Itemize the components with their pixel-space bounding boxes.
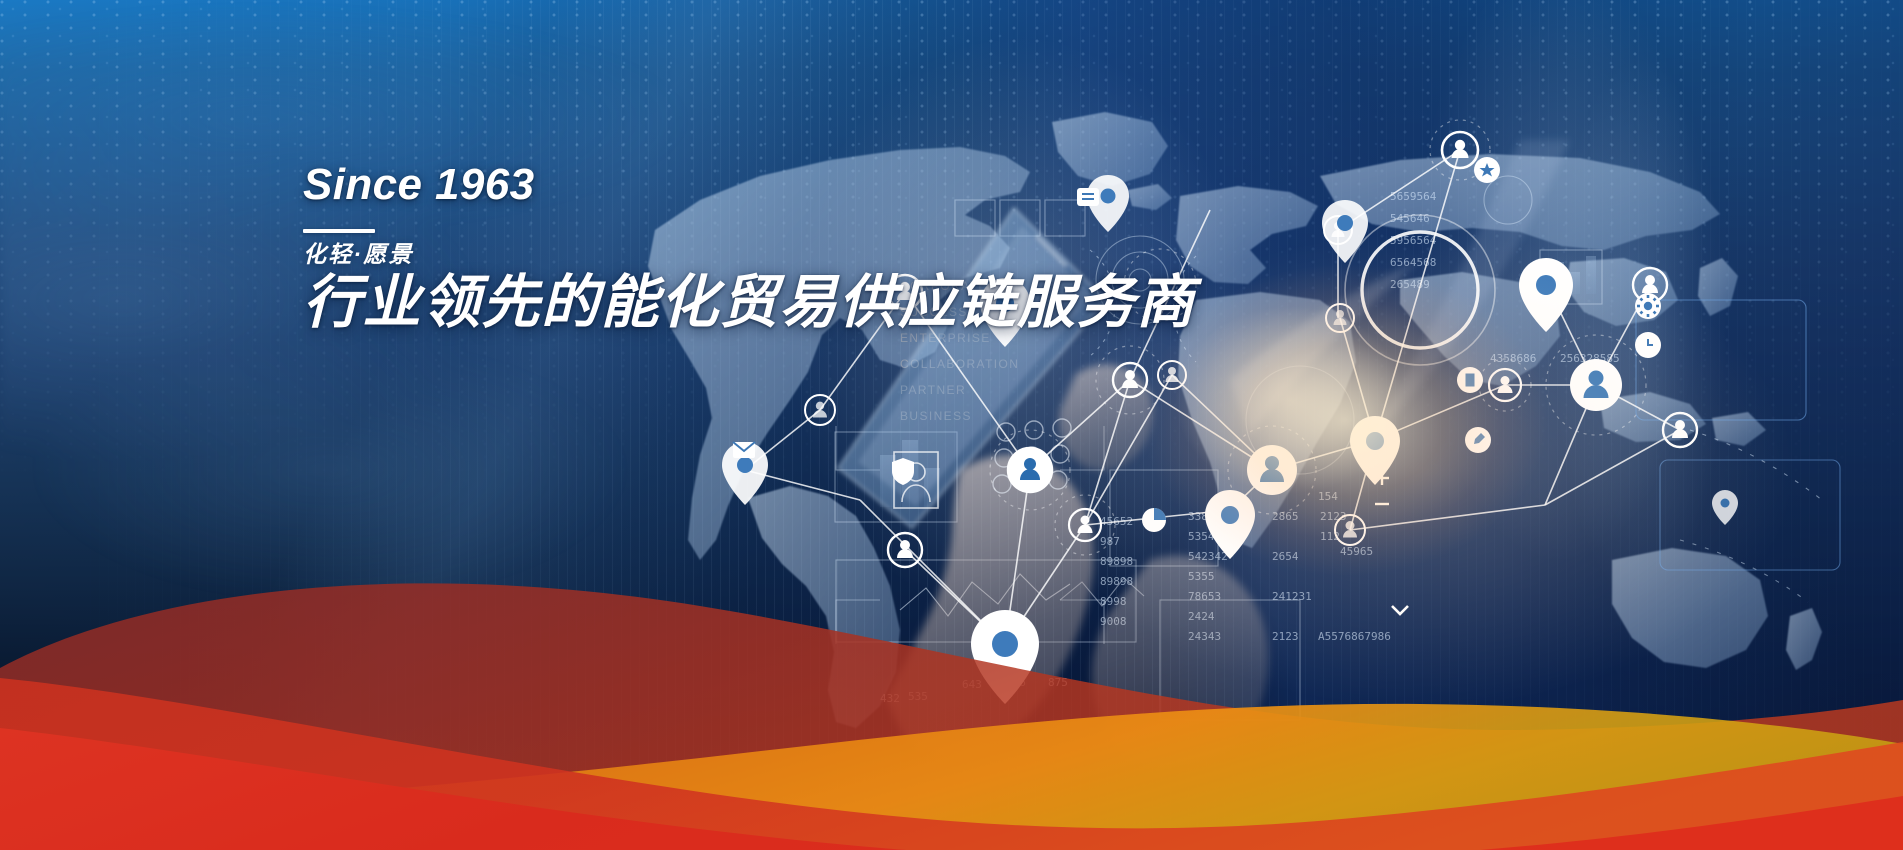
hero-text-block: Since 1963 化轻·愿景 行业领先的能化贸易供应链服务商	[303, 163, 1303, 336]
bottom-wave-decoration	[0, 520, 1903, 850]
subtitle: 化轻·愿景	[303, 242, 1303, 267]
since-label: Since 1963	[303, 163, 1303, 207]
page-title: 行业领先的能化贸易供应链服务商	[303, 271, 1303, 336]
title-divider	[303, 229, 375, 233]
hero-banner: 3385 535454 542342 5355 78653 2424 24343…	[0, 0, 1903, 850]
